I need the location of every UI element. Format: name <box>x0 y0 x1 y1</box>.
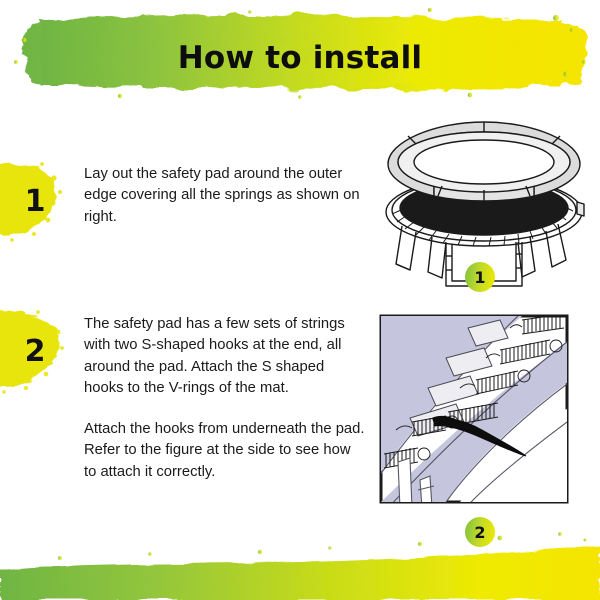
header-brush-band: How to install <box>0 0 600 110</box>
step-1-number: 1 <box>0 158 86 244</box>
figure-1-badge: 1 <box>465 262 495 292</box>
figure-2-hook-detail <box>372 312 596 542</box>
footer-brush-svg <box>0 528 600 600</box>
step-2-paragraph-1: The safety pad has a few sets of strings… <box>84 314 366 400</box>
page-title: How to install <box>0 40 600 76</box>
footer-brush-band <box>0 528 600 600</box>
step-1-text: Lay out the safety pad around the outer … <box>84 164 366 228</box>
step-1-paragraph-1: Lay out the safety pad around the outer … <box>84 164 366 228</box>
step-2-text: The safety pad has a few sets of strings… <box>84 314 366 483</box>
hook-detail-illustration <box>372 312 596 512</box>
step-2-paragraph-2: Attach the hooks from underneath the pad… <box>84 419 366 483</box>
step-2-number: 2 <box>0 308 86 394</box>
